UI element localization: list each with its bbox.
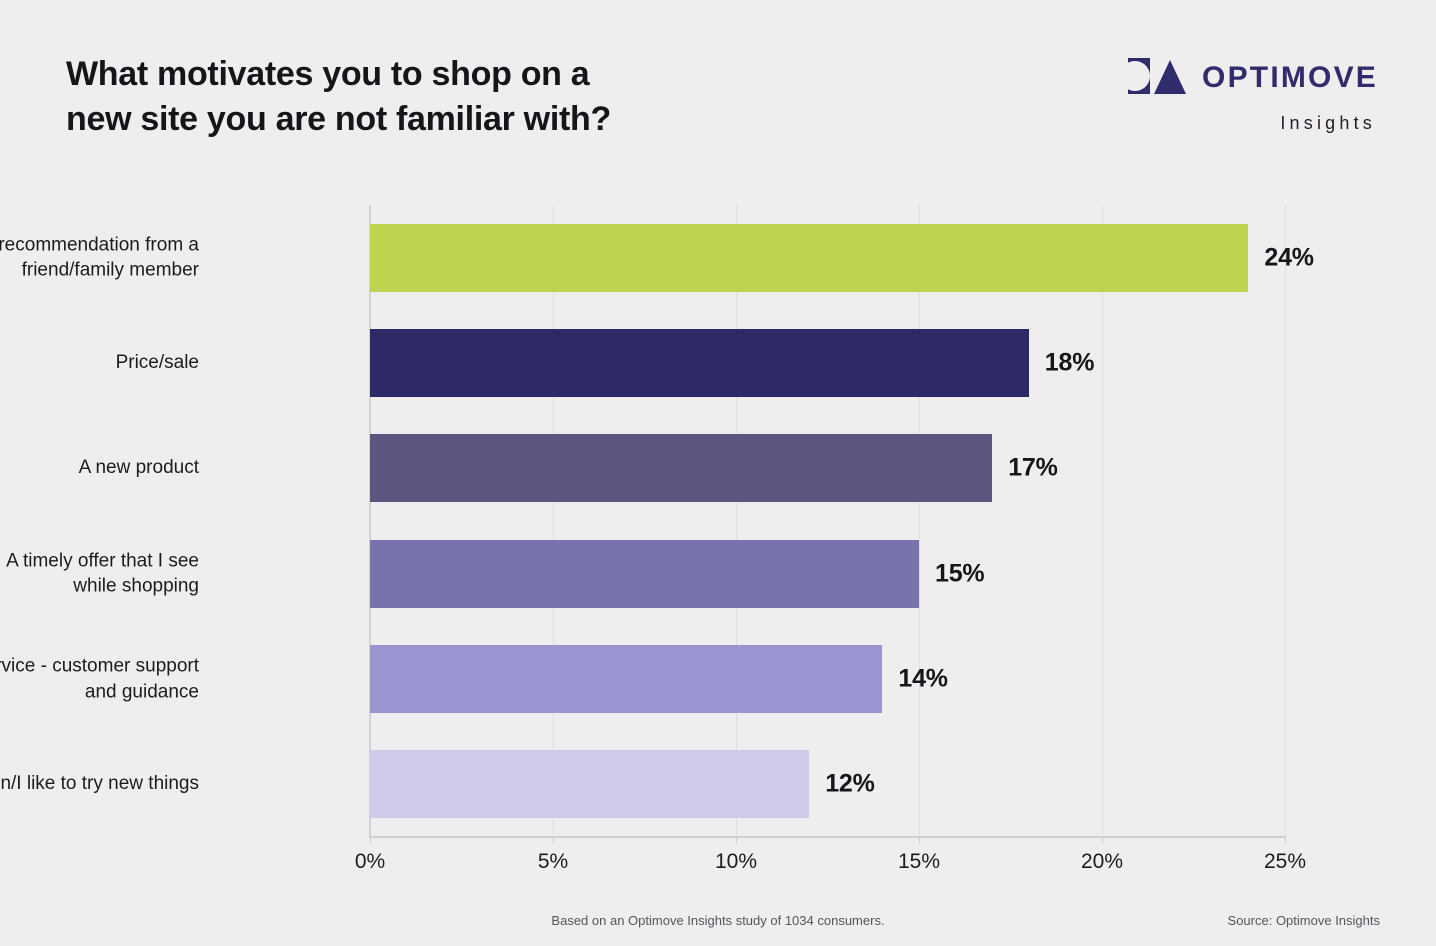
bar-value-label: 17% (1008, 454, 1057, 483)
bar[interactable] (370, 645, 882, 713)
bar[interactable] (370, 224, 1248, 292)
optimove-logo-mark (1128, 58, 1186, 99)
category-label: It is fun/I like to try new things (0, 772, 199, 798)
source-note: Source: Optimove Insights (1228, 913, 1380, 928)
footnote: Based on an Optimove Insights study of 1… (0, 913, 1436, 928)
category-label: A new product (0, 456, 199, 482)
bar-value-label: 14% (898, 665, 947, 694)
axis-tick (919, 837, 920, 843)
optimove-insights-logo: OPTIMOVE Insights (1116, 58, 1378, 136)
logo-wordmark: OPTIMOVE (1202, 63, 1378, 93)
axis-tick (553, 837, 554, 843)
bar[interactable] (370, 434, 992, 502)
category-label: Service - customer support and guidance (0, 653, 199, 704)
bar-row: 14%Service - customer support and guidan… (370, 645, 1285, 713)
axis-tick (1102, 837, 1103, 843)
bar[interactable] (370, 750, 809, 818)
bar[interactable] (370, 329, 1029, 397)
logo-row: OPTIMOVE (1116, 58, 1378, 98)
category-label: A timely offer that I see while shopping (0, 548, 199, 599)
x-axis-line (369, 836, 1286, 838)
x-tick-label: 5% (538, 850, 568, 874)
gridline (553, 205, 554, 837)
logo-subtitle: Insights (1116, 114, 1378, 132)
gridline (919, 205, 920, 837)
bar-row: 24%A recommendation from a friend/family… (370, 224, 1285, 292)
bar[interactable] (370, 540, 919, 608)
page-title: What motivates you to shop on a new site… (66, 52, 826, 142)
bar-value-label: 15% (935, 559, 984, 588)
bar-row: 15%A timely offer that I see while shopp… (370, 540, 1285, 608)
y-axis-line (369, 205, 371, 837)
axis-tick (736, 837, 737, 843)
bar-row: 18%Price/sale (370, 329, 1285, 397)
axis-tick (370, 837, 371, 843)
header: What motivates you to shop on a new site… (0, 0, 1436, 180)
category-label: A recommendation from a friend/family me… (0, 232, 199, 283)
bar-value-label: 18% (1045, 349, 1094, 378)
gridline (1285, 205, 1286, 837)
category-label: Price/sale (0, 350, 199, 376)
x-tick-label: 25% (1264, 850, 1306, 874)
bar-value-label: 24% (1264, 243, 1313, 272)
bar-row: 12%It is fun/I like to try new things (370, 750, 1285, 818)
gridline (736, 205, 737, 837)
chart-plot-area: 24%A recommendation from a friend/family… (370, 205, 1285, 837)
x-tick-label: 20% (1081, 850, 1123, 874)
bar-row: 17%A new product (370, 434, 1285, 502)
x-tick-label: 0% (355, 850, 385, 874)
gridline (1102, 205, 1103, 837)
x-tick-label: 10% (715, 850, 757, 874)
x-tick-label: 15% (898, 850, 940, 874)
bar-value-label: 12% (825, 770, 874, 799)
axis-tick (1285, 837, 1286, 843)
